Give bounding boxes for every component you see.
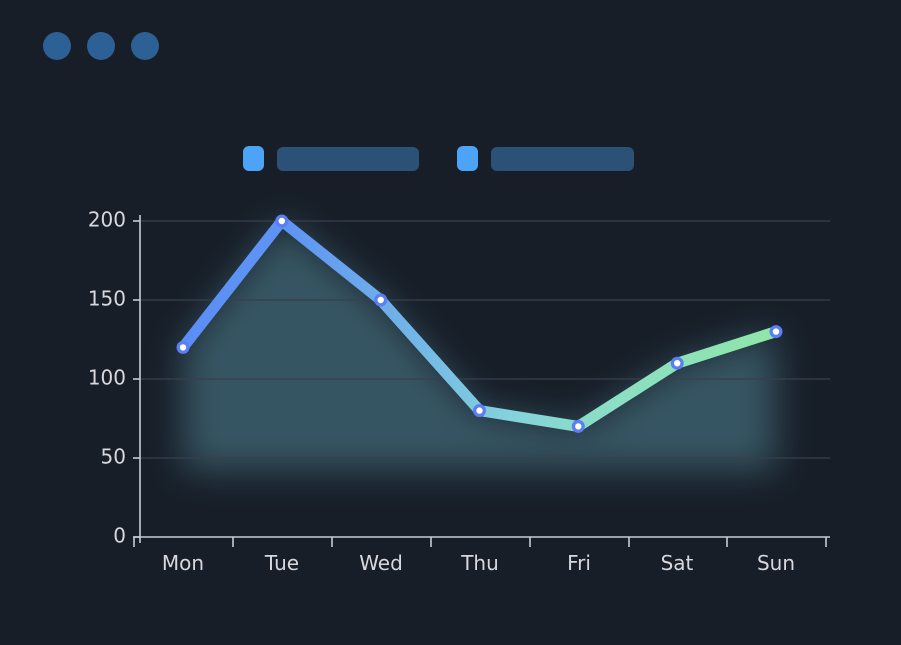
chart-window: 200 150 100 50 0 Mon Tue Wed Thu	[0, 0, 901, 645]
x-tick-label-sat: Sat	[661, 551, 694, 575]
x-tick-label-thu: Thu	[460, 551, 499, 575]
data-point-sat[interactable]	[671, 357, 684, 370]
data-point-wed[interactable]	[374, 294, 387, 307]
line-glow	[183, 221, 776, 470]
x-axis: Mon Tue Wed Thu Fri Sat Sun	[134, 537, 830, 575]
y-tick-label-150: 150	[88, 287, 126, 311]
x-tick-label-mon: Mon	[162, 551, 204, 575]
y-tick-label-200: 200	[88, 208, 126, 232]
data-point-tue[interactable]	[275, 215, 288, 228]
x-tick-label-fri: Fri	[567, 551, 591, 575]
chart-svg: 200 150 100 50 0 Mon Tue Wed Thu	[0, 0, 901, 645]
data-point-fri[interactable]	[572, 420, 585, 433]
x-tick-label-tue: Tue	[264, 551, 299, 575]
x-tick-label-sun: Sun	[757, 551, 795, 575]
data-point-thu[interactable]	[473, 404, 486, 417]
y-tick-label-100: 100	[88, 366, 126, 390]
line-chart: 200 150 100 50 0 Mon Tue Wed Thu	[0, 0, 901, 645]
y-tick-label-0: 0	[113, 524, 126, 548]
y-axis: 200 150 100 50 0	[88, 208, 140, 548]
x-tick-label-wed: Wed	[359, 551, 403, 575]
data-point-mon[interactable]	[177, 341, 190, 354]
data-point-sun[interactable]	[770, 325, 783, 338]
y-tick-label-50: 50	[101, 445, 126, 469]
